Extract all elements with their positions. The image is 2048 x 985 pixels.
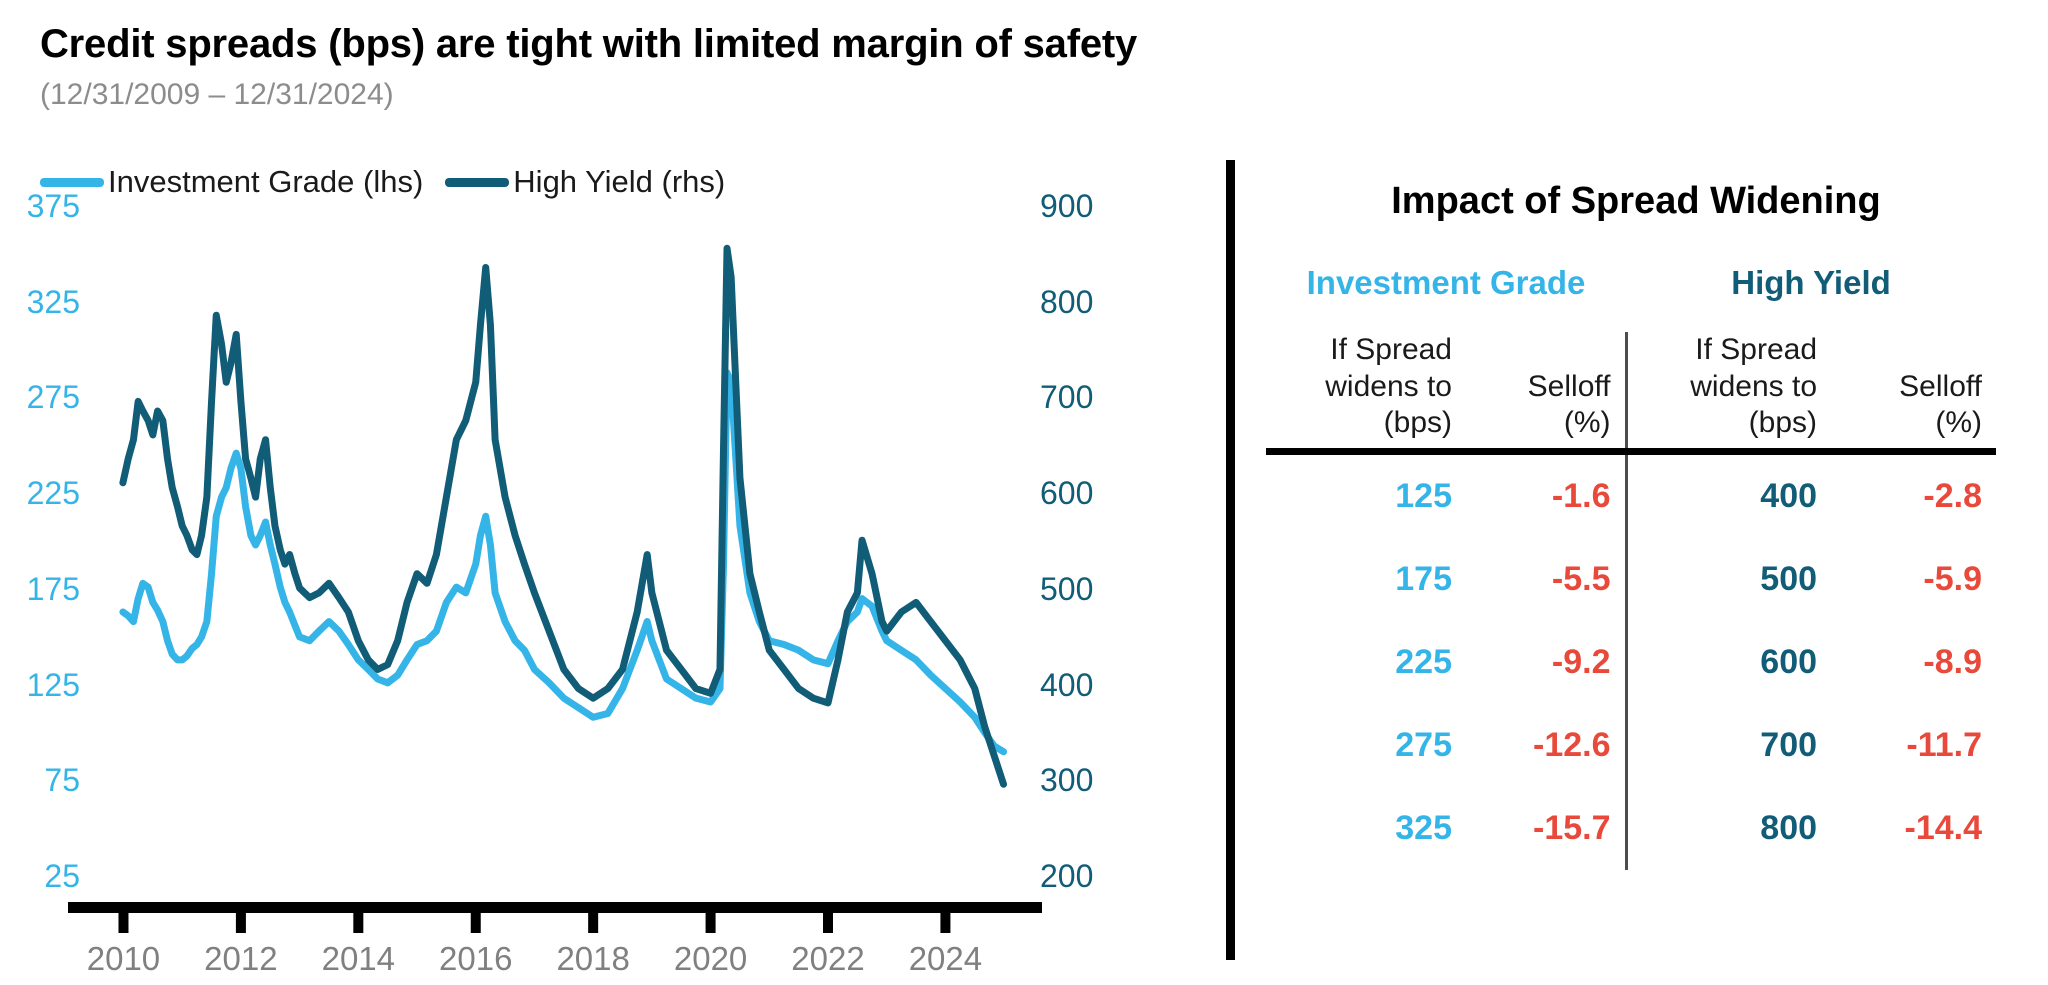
column-header-hy-spread: If Spread widens to (bps) (1626, 332, 1831, 451)
y-axis-right-tick-label: 500 (1040, 571, 1150, 608)
y-axis-right-tick-label: 700 (1040, 379, 1150, 416)
cell-ig-selloff: -1.6 (1466, 455, 1626, 538)
x-axis-tick-label: 2024 (885, 940, 1005, 978)
x-axis-tick-mark (471, 913, 481, 933)
legend-item-investment-grade[interactable]: Investment Grade (lhs) (40, 164, 445, 200)
impact-table-body: 125-1.6400-2.8175-5.5500-5.9225-9.2600-8… (1266, 455, 1996, 870)
col-line-2: Selloff (1831, 369, 1982, 406)
legend-item-high-yield[interactable]: High Yield (rhs) (445, 164, 747, 200)
cell-hy-spread: 600 (1626, 621, 1831, 704)
x-axis-tick-label: 2012 (181, 940, 301, 978)
y-axis-right-tick-label: 900 (1040, 188, 1150, 225)
cell-ig-spread: 175 (1266, 538, 1466, 621)
y-axis-right-tick-label: 400 (1040, 667, 1150, 704)
cell-hy-selloff: -11.7 (1831, 704, 1996, 787)
x-axis-tick-mark (118, 913, 128, 933)
y-axis-left-tick-label: 225 (0, 475, 80, 512)
y-axis-left-tick-label: 375 (0, 188, 80, 225)
x-axis-tick-mark (823, 913, 833, 933)
x-axis-tick-mark (940, 913, 950, 933)
cell-hy-selloff: -5.9 (1831, 538, 1996, 621)
col-line-2: widens to (1628, 369, 1818, 406)
cell-ig-selloff: -15.7 (1466, 787, 1626, 870)
group-header-high-yield: High Yield (1626, 263, 1996, 332)
impact-table: Investment Grade High Yield If Spread wi… (1266, 263, 1996, 870)
table-row: 175-5.5500-5.9 (1266, 538, 1996, 621)
table-row: 325-15.7800-14.4 (1266, 787, 1996, 870)
table-row: 225-9.2600-8.9 (1266, 621, 1996, 704)
col-line-1 (1466, 332, 1611, 369)
x-axis-tick-label: 2018 (533, 940, 653, 978)
cell-ig-selloff: -12.6 (1466, 704, 1626, 787)
x-axis-tick-mark (706, 913, 716, 933)
legend-swatch-high-yield (445, 178, 509, 187)
y-axis-right-tick-label: 200 (1040, 858, 1150, 895)
page-subtitle: (12/31/2009 – 12/31/2024) (40, 78, 394, 112)
cell-ig-selloff: -5.5 (1466, 538, 1626, 621)
cell-hy-spread: 400 (1626, 455, 1831, 538)
column-header-hy-selloff: Selloff (%) (1831, 332, 1996, 451)
cell-hy-selloff: -8.9 (1831, 621, 1996, 704)
col-line-3: (%) (1466, 405, 1611, 442)
x-axis-tick-label: 2020 (651, 940, 771, 978)
page-title: Credit spreads (bps) are tight with limi… (40, 22, 1137, 67)
cell-ig-spread: 275 (1266, 704, 1466, 787)
cell-ig-spread: 225 (1266, 621, 1466, 704)
col-line-2: widens to (1266, 369, 1452, 406)
cell-ig-spread: 125 (1266, 455, 1466, 538)
x-axis-tick-label: 2016 (416, 940, 536, 978)
table-group-header-row: Investment Grade High Yield (1266, 263, 1996, 332)
table-column-header-row: If Spread widens to (bps) Selloff (%) If… (1266, 332, 1996, 451)
column-header-ig-spread: If Spread widens to (bps) (1266, 332, 1466, 451)
x-axis-tick-label: 2010 (63, 940, 183, 978)
legend-swatch-investment-grade (40, 178, 104, 187)
y-axis-right-tick-label: 300 (1040, 762, 1150, 799)
panel-divider (1226, 160, 1235, 960)
x-axis-tick-mark (588, 913, 598, 933)
col-line-2: Selloff (1466, 369, 1611, 406)
col-line-3: (%) (1831, 405, 1982, 442)
x-axis-tick-mark (236, 913, 246, 933)
col-line-1: If Spread (1628, 332, 1818, 369)
chart-legend: Investment Grade (lhs) High Yield (rhs) (40, 164, 747, 200)
cell-hy-spread: 800 (1626, 787, 1831, 870)
table-row: 125-1.6400-2.8 (1266, 455, 1996, 538)
impact-panel: Impact of Spread Widening Investment Gra… (1256, 150, 2016, 870)
cell-ig-selloff: -9.2 (1466, 621, 1626, 704)
col-line-3: (bps) (1628, 405, 1818, 442)
series-line-high-yield (123, 248, 1004, 784)
y-axis-right-tick-label: 600 (1040, 475, 1150, 512)
cell-hy-spread: 700 (1626, 704, 1831, 787)
col-line-1 (1831, 332, 1982, 369)
y-axis-left-tick-label: 325 (0, 284, 80, 321)
x-axis-tick-label: 2022 (768, 940, 888, 978)
y-axis-left-tick-label: 75 (0, 762, 80, 799)
cell-hy-selloff: -2.8 (1831, 455, 1996, 538)
x-axis-line (68, 902, 1042, 913)
cell-hy-spread: 500 (1626, 538, 1831, 621)
x-axis-tick-label: 2014 (298, 940, 418, 978)
y-axis-left-tick-label: 175 (0, 571, 80, 608)
column-header-ig-selloff: Selloff (%) (1466, 332, 1626, 451)
legend-label-high-yield: High Yield (rhs) (513, 164, 725, 200)
legend-label-investment-grade: Investment Grade (lhs) (108, 164, 423, 200)
cell-ig-spread: 325 (1266, 787, 1466, 870)
col-line-3: (bps) (1266, 405, 1452, 442)
panel-title: Impact of Spread Widening (1256, 180, 2016, 223)
x-axis-tick-mark (353, 913, 363, 933)
table-row: 275-12.6700-11.7 (1266, 704, 1996, 787)
group-header-investment-grade: Investment Grade (1266, 263, 1626, 332)
chart-svg (0, 200, 1160, 980)
y-axis-right-tick-label: 800 (1040, 284, 1150, 321)
y-axis-left-tick-label: 25 (0, 858, 80, 895)
y-axis-left-tick-label: 125 (0, 667, 80, 704)
cell-hy-selloff: -14.4 (1831, 787, 1996, 870)
slide-root: Credit spreads (bps) are tight with limi… (0, 0, 2048, 979)
credit-spread-chart: 3753252752251751257525900800700600500400… (0, 200, 1160, 980)
y-axis-left-tick-label: 275 (0, 379, 80, 416)
col-line-1: If Spread (1266, 332, 1452, 369)
